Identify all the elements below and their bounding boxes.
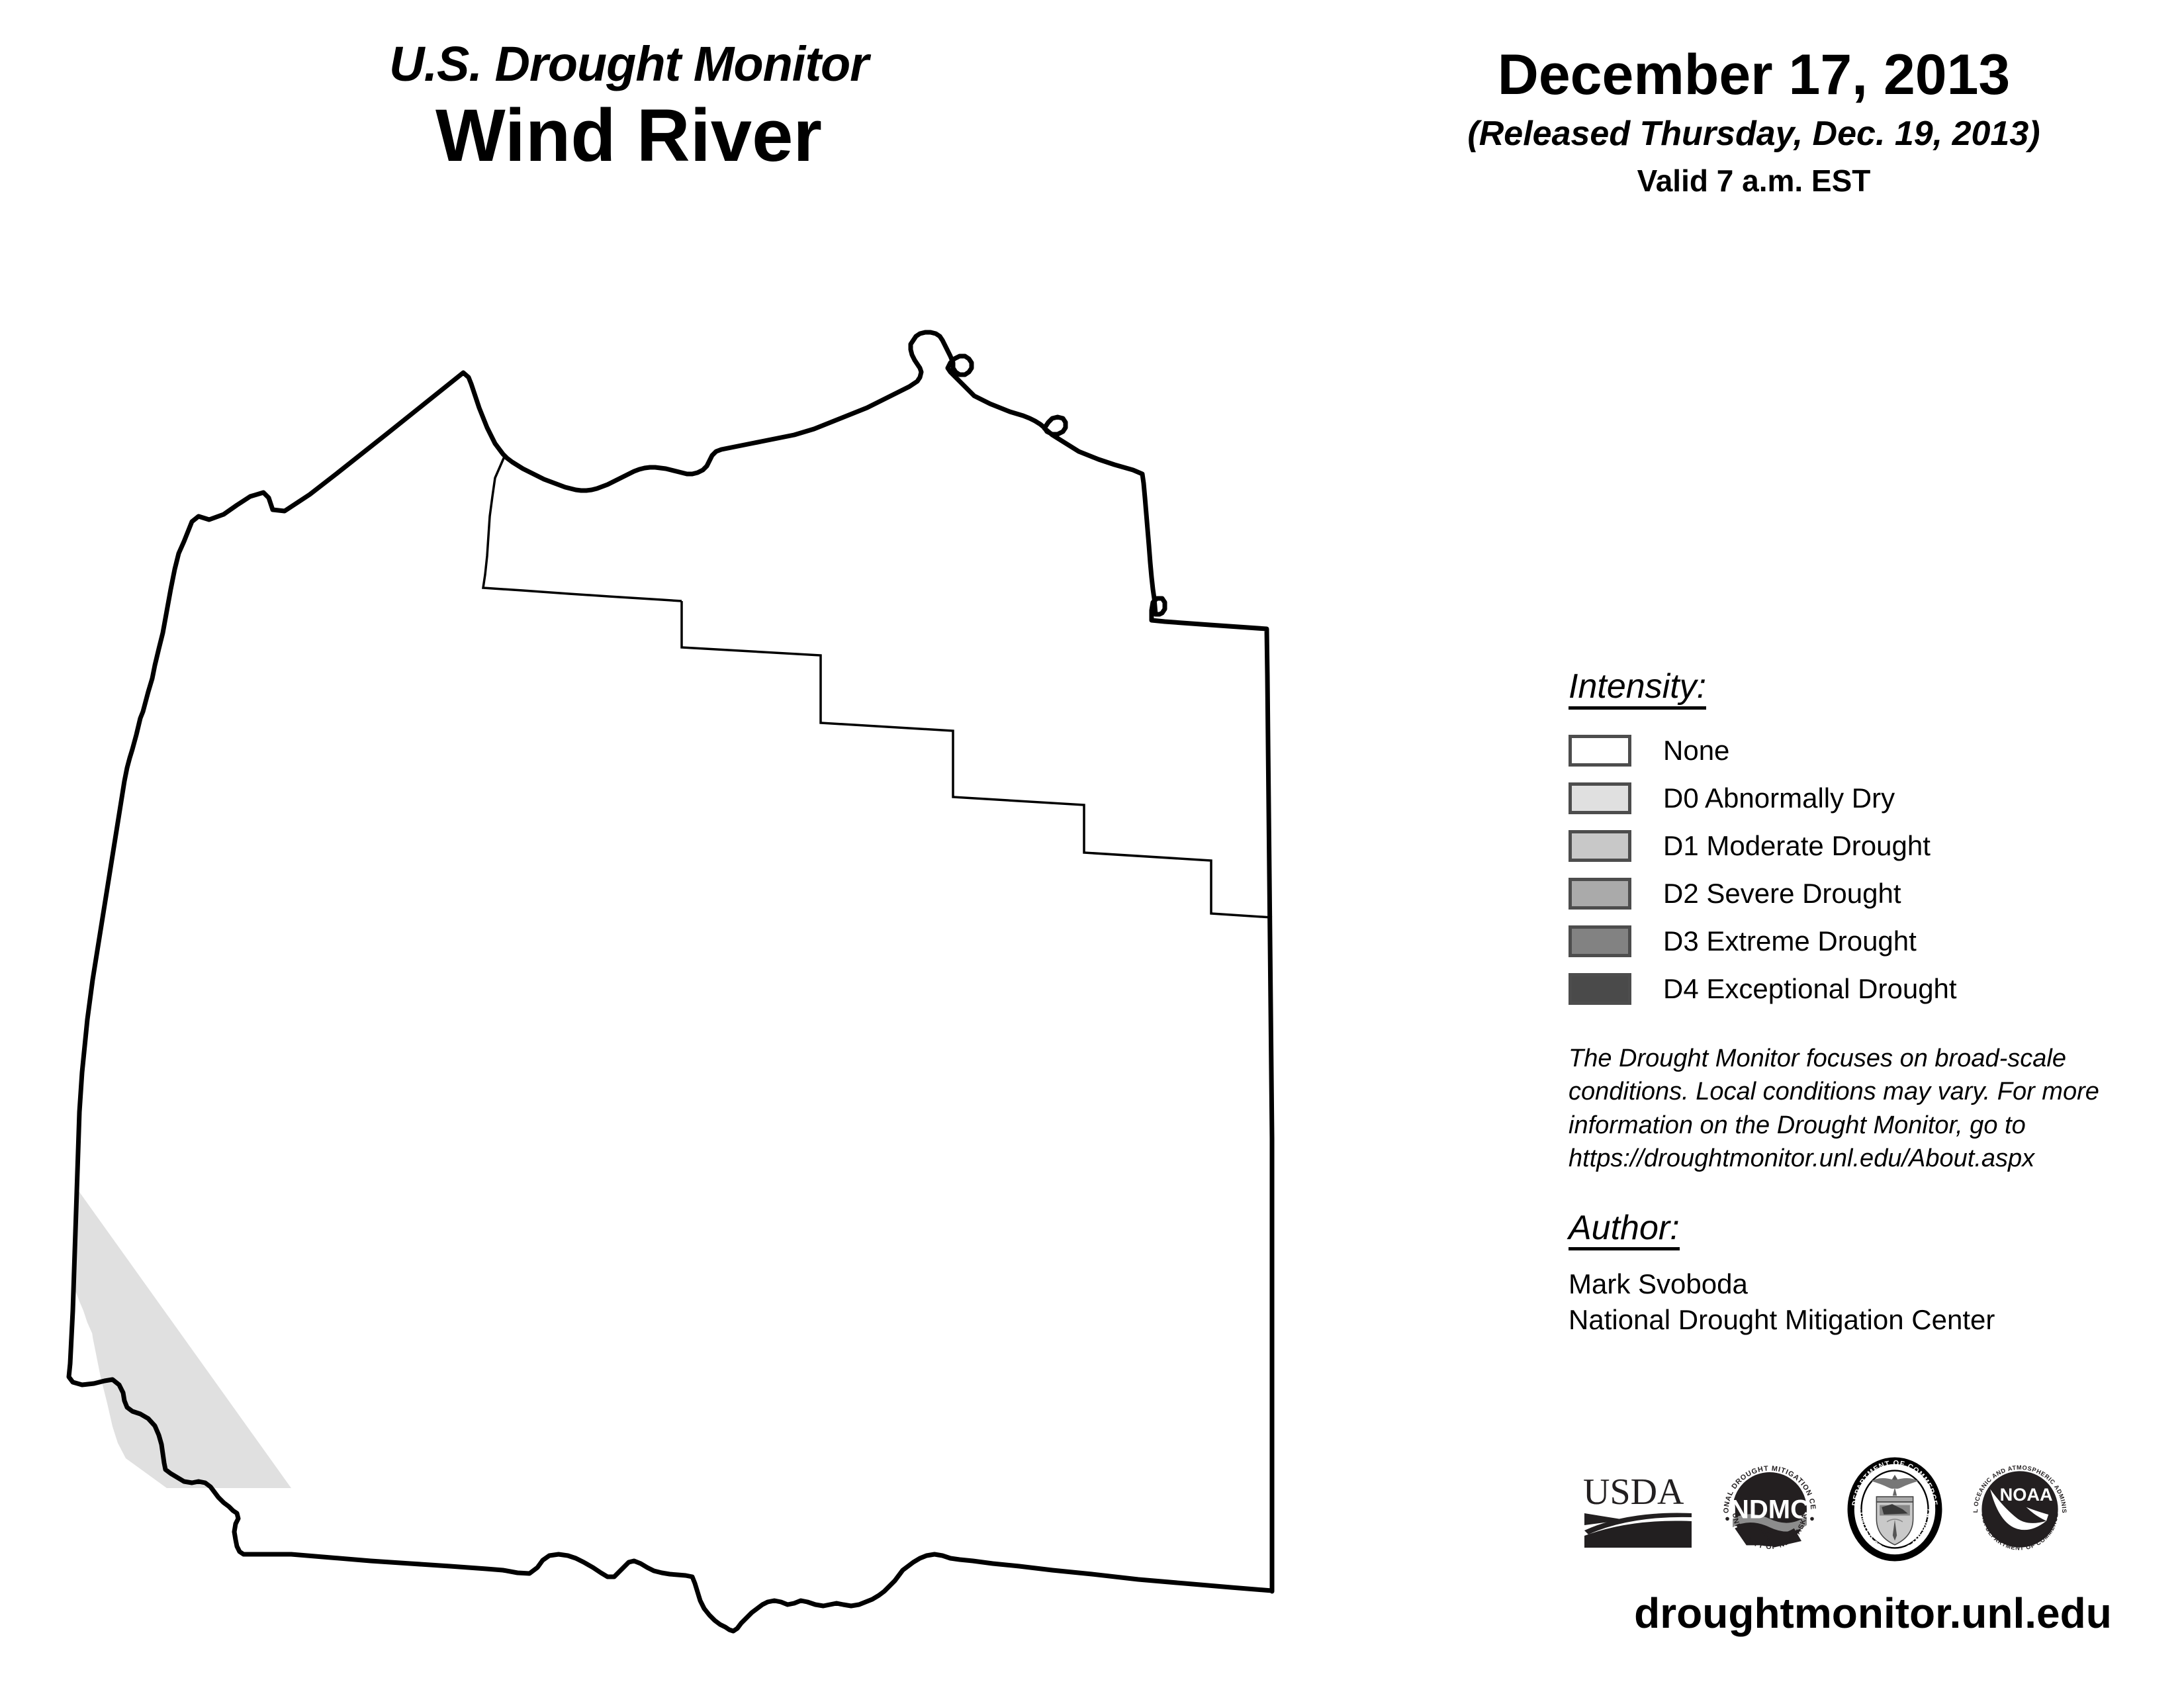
valid-time: Valid 7 a.m. EST	[1377, 165, 2131, 196]
legend-item-d4[interactable]: D4 Exceptional Drought	[1569, 965, 2177, 1013]
valid-date: December 17, 2013	[1377, 46, 2131, 103]
svg-text:NOAA: NOAA	[2000, 1484, 2053, 1505]
internal-boundary-north	[483, 457, 682, 601]
header-left-titles: U.S. Drought Monitor Wind River	[199, 40, 1059, 175]
svg-text:NDMC: NDMC	[1730, 1495, 1809, 1524]
legend-label-d1: D1 Moderate Drought	[1663, 832, 1931, 860]
legend-item-d1[interactable]: D1 Moderate Drought	[1569, 822, 2177, 870]
site-url[interactable]: droughtmonitor.unl.edu	[1569, 1589, 2177, 1638]
author-name: Mark Svoboda	[1569, 1266, 2177, 1302]
ndmc-logo[interactable]: NDMC NATIONAL DROUGHT MITIGATION CENTER …	[1717, 1456, 1823, 1566]
drought-map[interactable]	[0, 278, 1496, 1688]
legend-swatch-d4	[1569, 973, 1631, 1005]
legend-swatch-d0	[1569, 782, 1631, 814]
doc-seal-logo[interactable]: DEPARTMENT OF COMMERCE UNITED STATES OF …	[1845, 1456, 1944, 1566]
svg-text:USDA: USDA	[1583, 1472, 1684, 1513]
legend-swatch-d3	[1569, 925, 1631, 957]
side-panel: Intensity: None D0 Abnormally Dry D1 Mod…	[1569, 669, 2177, 1338]
legend-item-d0[interactable]: D0 Abnormally Dry	[1569, 774, 2177, 822]
legend-label-d2: D2 Severe Drought	[1663, 880, 1901, 908]
legend-swatch-d1	[1569, 830, 1631, 862]
author-block: Author: Mark Svoboda National Drought Mi…	[1569, 1210, 2177, 1338]
legend-swatch-d2	[1569, 878, 1631, 910]
author-heading: Author:	[1569, 1210, 1680, 1251]
program-title: U.S. Drought Monitor	[199, 40, 1059, 89]
legend-item-d3[interactable]: D3 Extreme Drought	[1569, 917, 2177, 965]
legend-heading: Intensity:	[1569, 669, 1706, 710]
legend-label-none: None	[1663, 737, 1729, 765]
legend-item-d2[interactable]: D2 Severe Drought	[1569, 870, 2177, 917]
agency-logo-row: USDA NDMC NATIONAL DROUGHT MITIGATION CE…	[1582, 1450, 2164, 1572]
legend-label-d3: D3 Extreme Drought	[1663, 927, 1917, 955]
drought-area-d0-lower	[78, 1190, 291, 1488]
legend-label-d0: D0 Abnormally Dry	[1663, 784, 1895, 812]
disclaimer-text: The Drought Monitor focuses on broad-sca…	[1569, 1042, 2151, 1176]
author-organization: National Drought Mitigation Center	[1569, 1302, 2177, 1338]
noaa-logo[interactable]: NOAA NATIONAL OCEANIC AND ATMOSPHERIC AD…	[1967, 1456, 2073, 1566]
legend-swatch-none	[1569, 735, 1631, 767]
region-title: Wind River	[199, 97, 1059, 175]
svg-text:★: ★	[1854, 1505, 1862, 1516]
release-date: (Released Thursday, Dec. 19, 2013)	[1377, 117, 2131, 151]
header-right-dates: December 17, 2013 (Released Thursday, De…	[1377, 46, 2131, 196]
usda-logo[interactable]: USDA	[1582, 1470, 1694, 1552]
internal-boundary-stepped	[682, 601, 1272, 917]
legend-list: None D0 Abnormally Dry D1 Moderate Droug…	[1569, 727, 2177, 1013]
svg-text:★: ★	[1927, 1505, 1935, 1516]
legend-label-d4: D4 Exceptional Drought	[1663, 975, 1957, 1003]
legend-item-none[interactable]: None	[1569, 727, 2177, 774]
